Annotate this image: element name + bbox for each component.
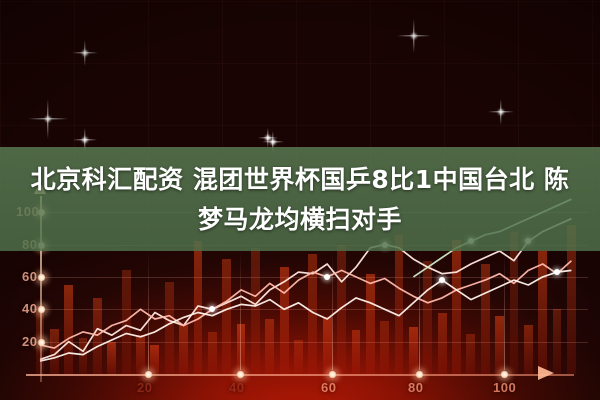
x-tick-label: 100 (493, 380, 516, 395)
y-tick-label: 20 (22, 334, 34, 349)
x-tick-label: 60 (321, 380, 336, 395)
chart-line-line-low (40, 270, 571, 361)
y-tick-dot (37, 338, 46, 347)
x-axis-arrow-icon (538, 366, 554, 380)
y-tick-label: 60 (22, 269, 34, 284)
chart-line-line-mid (40, 261, 571, 348)
x-tick-dropline (504, 250, 505, 370)
news-thumbnail-image: 20406080100 20406080100 北京科汇配资 混团世界杯国乒8比… (0, 0, 600, 400)
y-tick-dot (37, 273, 46, 282)
x-tick-label: 40 (229, 380, 244, 395)
x-tick-dot (415, 370, 424, 379)
x-axis-line (26, 374, 574, 376)
x-tick-label: 20 (137, 380, 152, 395)
x-tick-dot (328, 370, 337, 379)
x-tick-dropline (148, 250, 149, 370)
y-tick-label: 40 (22, 301, 34, 316)
headline-line-2: 梦马龙均横扫对手 (198, 200, 402, 240)
x-tick-dot (236, 370, 245, 379)
headline-text-block: 北京科汇配资 混团世界杯国乒8比1中国台北 陈 梦马龙均横扫对手 (0, 150, 600, 250)
headline-line-1: 北京科汇配资 混团世界杯国乒8比1中国台北 陈 (31, 160, 570, 200)
x-tick-dot (500, 370, 509, 379)
x-tick-dot (144, 370, 153, 379)
x-tick-dropline (419, 250, 420, 370)
x-tick-label: 80 (408, 380, 423, 395)
x-tick-dropline (240, 250, 241, 370)
x-tick-dropline (332, 250, 333, 370)
